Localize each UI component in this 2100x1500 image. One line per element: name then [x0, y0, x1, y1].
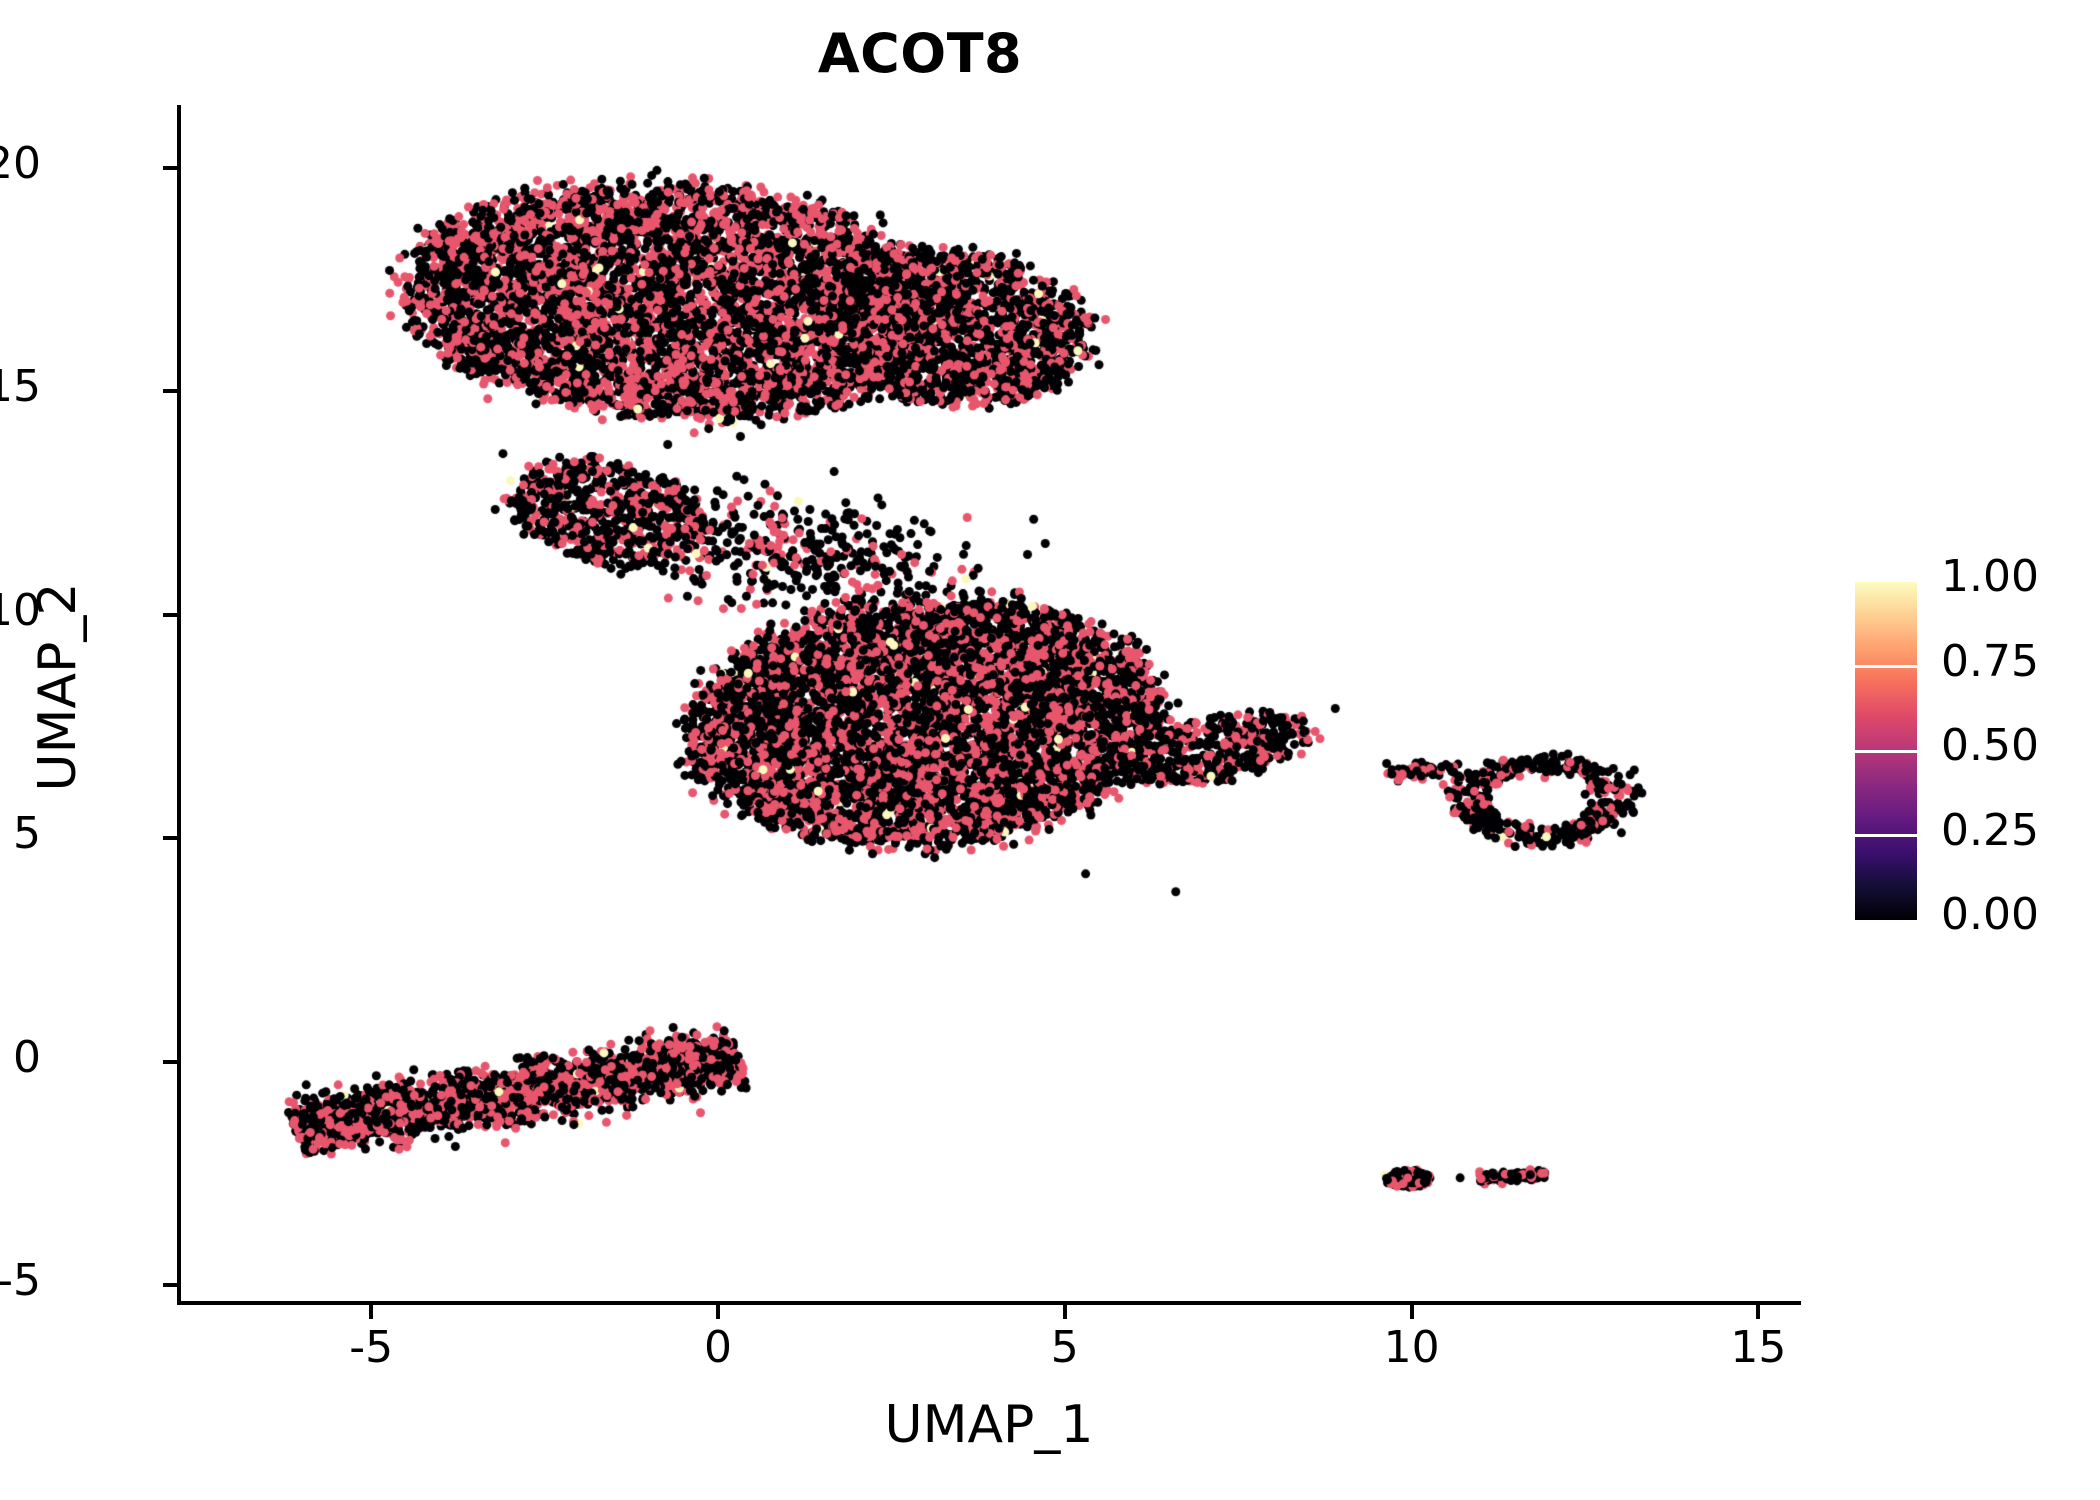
x-tick-label: 5	[965, 1322, 1165, 1373]
y-tick-label: 20	[0, 138, 41, 189]
y-tick-mark	[163, 836, 177, 840]
figure-canvas: ACOT8 -505101520 -5051015 UMAP_1 UMAP_2 …	[0, 0, 2100, 1500]
scatter-plot-axes[interactable]	[177, 105, 1800, 1303]
colorbar[interactable]: 1.000.750.500.250.00	[1855, 582, 2085, 922]
y-axis-label: UMAP_2	[28, 377, 88, 997]
x-tick-label: -5	[271, 1322, 471, 1373]
y-tick-mark	[163, 389, 177, 393]
colorbar-tick-mark	[1855, 582, 1917, 585]
colorbar-tick-label: 0.75	[1941, 636, 2039, 687]
y-tick-mark	[163, 1283, 177, 1287]
page-title: ACOT8	[0, 22, 1840, 85]
colorbar-tick-label: 0.00	[1941, 889, 2039, 940]
y-tick-mark	[163, 166, 177, 170]
colorbar-tick-label: 0.50	[1941, 720, 2039, 771]
x-axis-spine	[177, 1301, 1801, 1305]
colorbar-tick-mark	[1855, 750, 1917, 753]
x-tick-mark	[1063, 1305, 1067, 1319]
x-tick-mark	[1410, 1305, 1414, 1319]
scatter-points-layer	[177, 105, 1800, 1303]
y-tick-mark	[163, 1060, 177, 1064]
colorbar-tick-mark	[1855, 917, 1917, 920]
x-tick-mark	[1756, 1305, 1760, 1319]
colorbar-tick-mark	[1855, 665, 1917, 668]
x-tick-mark	[369, 1305, 373, 1319]
y-tick-label: 0	[13, 1032, 41, 1083]
x-axis-label: UMAP_1	[177, 1395, 1801, 1455]
colorbar-tick-label: 1.00	[1941, 551, 2039, 602]
x-tick-mark	[716, 1305, 720, 1319]
x-tick-label: 0	[618, 1322, 818, 1373]
y-tick-label: -5	[0, 1255, 41, 1306]
y-tick-mark	[163, 613, 177, 617]
x-tick-label: 10	[1312, 1322, 1512, 1373]
colorbar-tick-label: 0.25	[1941, 805, 2039, 856]
x-tick-label: 15	[1658, 1322, 1858, 1373]
colorbar-tick-mark	[1855, 834, 1917, 837]
y-axis-spine	[177, 105, 181, 1305]
